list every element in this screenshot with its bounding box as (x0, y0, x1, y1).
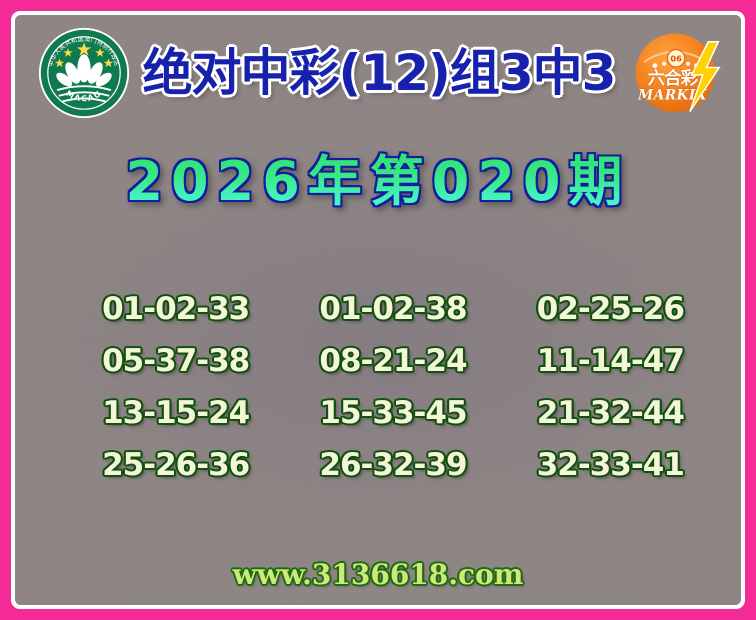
poster-header: 中华人民共和国澳门特别行政区 (15, 21, 741, 125)
poster-inner-border: 中华人民共和国澳门特别行政区 (11, 11, 745, 609)
period-text: 2026年第020期 (125, 150, 630, 213)
number-combination: 02-25-26 (537, 294, 684, 325)
number-combination: 13-15-24 (102, 398, 249, 429)
number-combination: 11-14-47 (537, 346, 684, 377)
number-combination: 05-37-38 (102, 346, 249, 377)
period-heading: 2026年第020期 (15, 155, 741, 209)
footer-website-url: www.3136618.com (15, 558, 741, 591)
number-combination: 01-02-38 (319, 294, 466, 325)
ball-number: 06 (670, 54, 682, 64)
number-combinations-grid: 01-02-33 01-02-38 02-25-26 05-37-38 08-2… (67, 283, 719, 491)
number-combination: 08-21-24 (319, 346, 466, 377)
lottery-poster: 中华人民共和国澳门特别行政区 (0, 0, 756, 620)
number-combination: 15-33-45 (319, 398, 466, 429)
number-combination: 21-32-44 (537, 398, 684, 429)
svg-text:六合彩: 六合彩 (648, 68, 699, 89)
macau-emblem: 中华人民共和国澳门特别行政区 (37, 26, 131, 120)
number-combination: 32-33-41 (537, 450, 684, 481)
poster-canvas: 中华人民共和国澳门特别行政区 (15, 15, 741, 605)
number-combination: 01-02-33 (102, 294, 249, 325)
page-title: 绝对中彩(12)组3中3 (127, 48, 631, 98)
number-combination: 26-32-39 (319, 450, 466, 481)
markix-logo: 06 六合彩 MARKIX (631, 27, 723, 119)
number-combination: 25-26-36 (102, 450, 249, 481)
